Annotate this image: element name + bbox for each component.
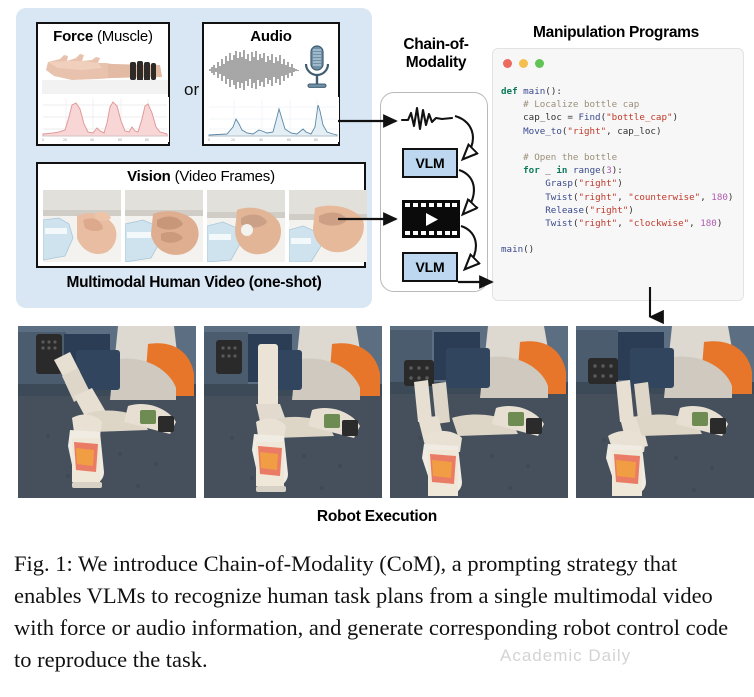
- svg-text:0: 0: [208, 138, 210, 142]
- svg-text:60: 60: [287, 138, 291, 142]
- code-line: for _ in range(3):: [501, 164, 739, 177]
- close-dot-icon[interactable]: [503, 59, 512, 68]
- maximize-dot-icon[interactable]: [535, 59, 544, 68]
- force-title-light: (Muscle): [93, 28, 153, 45]
- svg-text:80: 80: [314, 138, 318, 142]
- code-line: # Localize bottle cap: [501, 98, 739, 111]
- vlm-box-2[interactable]: VLM: [402, 252, 458, 282]
- code-line: [501, 230, 739, 243]
- audio-title-bold: Audio: [250, 28, 292, 45]
- figure-page: Force (Muscle): [0, 0, 754, 697]
- vision-frame: [207, 190, 285, 262]
- window-traffic-lights: [503, 59, 544, 68]
- vision-title: Vision (Video Frames): [38, 164, 364, 186]
- vision-frame: [125, 190, 203, 262]
- video-film-icon: [402, 200, 460, 238]
- robot-frame: [576, 326, 754, 498]
- robot-frame: [390, 326, 568, 498]
- audio-signal-plot: 020406080: [207, 97, 339, 142]
- watermark: Academic Daily: [500, 646, 750, 680]
- code-line: Twist("right", "counterwise", 180): [501, 191, 739, 204]
- chain-of-modality-title: Chain-of- Modality: [380, 36, 492, 72]
- vision-frame: [289, 190, 367, 262]
- multimodal-human-video-panel: Force (Muscle): [16, 8, 372, 308]
- robot-frame: [204, 326, 382, 498]
- robot-execution-frame-strip: [18, 326, 754, 498]
- multimodal-panel-caption: Multimodal Human Video (one-shot): [16, 274, 372, 292]
- force-signal-plot: 020406080: [41, 97, 169, 142]
- code-line: cap_loc = Find("bottle_cap"): [501, 111, 739, 124]
- svg-text:40: 40: [90, 138, 94, 142]
- vision-title-light: (Video Frames): [171, 168, 275, 185]
- code-line: def main():: [501, 85, 739, 98]
- code-line: # Open the bottle: [501, 151, 739, 164]
- signal-squiggle-icon: [400, 104, 462, 134]
- microphone-icon: [300, 44, 334, 92]
- svg-text:60: 60: [118, 138, 122, 142]
- minimize-dot-icon[interactable]: [519, 59, 528, 68]
- code-line: Grasp("right"): [501, 177, 739, 190]
- manipulation-programs-title: Manipulation Programs: [492, 24, 740, 42]
- forearm-emg-image: [42, 46, 168, 94]
- com-title-line1: Chain-of-: [403, 36, 468, 53]
- code-line: main(): [501, 243, 739, 256]
- vision-title-bold: Vision: [127, 168, 171, 185]
- svg-text:20: 20: [63, 138, 67, 142]
- code-content: def main(): # Localize bottle cap cap_lo…: [501, 85, 739, 257]
- code-editor-window[interactable]: def main(): # Localize bottle cap cap_lo…: [492, 48, 744, 301]
- code-line: Move_to("right", cap_loc): [501, 125, 739, 138]
- code-line: [501, 138, 739, 151]
- robot-execution-caption: Robot Execution: [0, 508, 754, 526]
- or-separator-label: or: [184, 80, 199, 100]
- audio-title: Audio: [204, 24, 338, 46]
- code-line: Twist("right", "clockwise", 180): [501, 217, 739, 230]
- robot-frame: [18, 326, 196, 498]
- audio-modality-box: Audio: [202, 22, 340, 146]
- svg-text:0: 0: [42, 138, 44, 142]
- code-line: Release("right"): [501, 204, 739, 217]
- vlm-box-1[interactable]: VLM: [402, 148, 458, 178]
- vision-frame-strip: [43, 190, 367, 262]
- svg-text:80: 80: [145, 138, 149, 142]
- force-modality-box: Force (Muscle): [36, 22, 170, 146]
- force-title: Force (Muscle): [38, 24, 168, 46]
- com-title-line2: Modality: [406, 54, 466, 71]
- force-title-bold: Force: [53, 28, 93, 45]
- svg-text:20: 20: [231, 138, 235, 142]
- svg-text:40: 40: [259, 138, 263, 142]
- vision-modality-box: Vision (Video Frames): [36, 162, 366, 268]
- audio-waveform-image: [208, 48, 304, 92]
- vision-frame: [43, 190, 121, 262]
